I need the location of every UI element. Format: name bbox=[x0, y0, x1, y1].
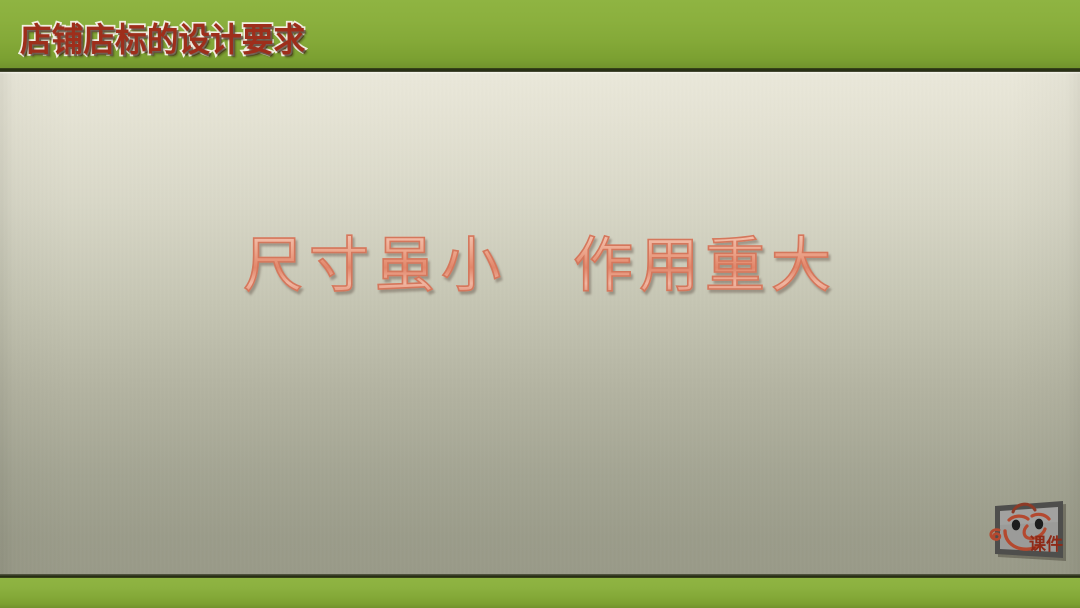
slide-title: 店铺店标的设计要求 bbox=[20, 20, 305, 60]
bottom-banner bbox=[0, 578, 1080, 608]
stage-highlight-line bbox=[0, 72, 1080, 74]
headline-text: 尺寸虽小 作用重大 bbox=[243, 227, 837, 305]
mascot-eye-right-icon bbox=[1035, 519, 1043, 530]
top-banner: 店铺店标的设计要求 bbox=[0, 0, 1080, 72]
presentation-slide: 店铺店标的设计要求 尺寸虽小 作用重大 bbox=[0, 0, 1080, 608]
mascot-eye-left-icon bbox=[1012, 520, 1020, 531]
kejian-logo-icon: 课件 bbox=[983, 498, 1067, 564]
kejian-logo: 课件 bbox=[983, 498, 1067, 564]
logo-caption: 课件 bbox=[1029, 534, 1063, 555]
headline-container: 尺寸虽小 作用重大 bbox=[0, 227, 1080, 305]
slide-content-area: 尺寸虽小 作用重大 bbox=[0, 72, 1080, 578]
